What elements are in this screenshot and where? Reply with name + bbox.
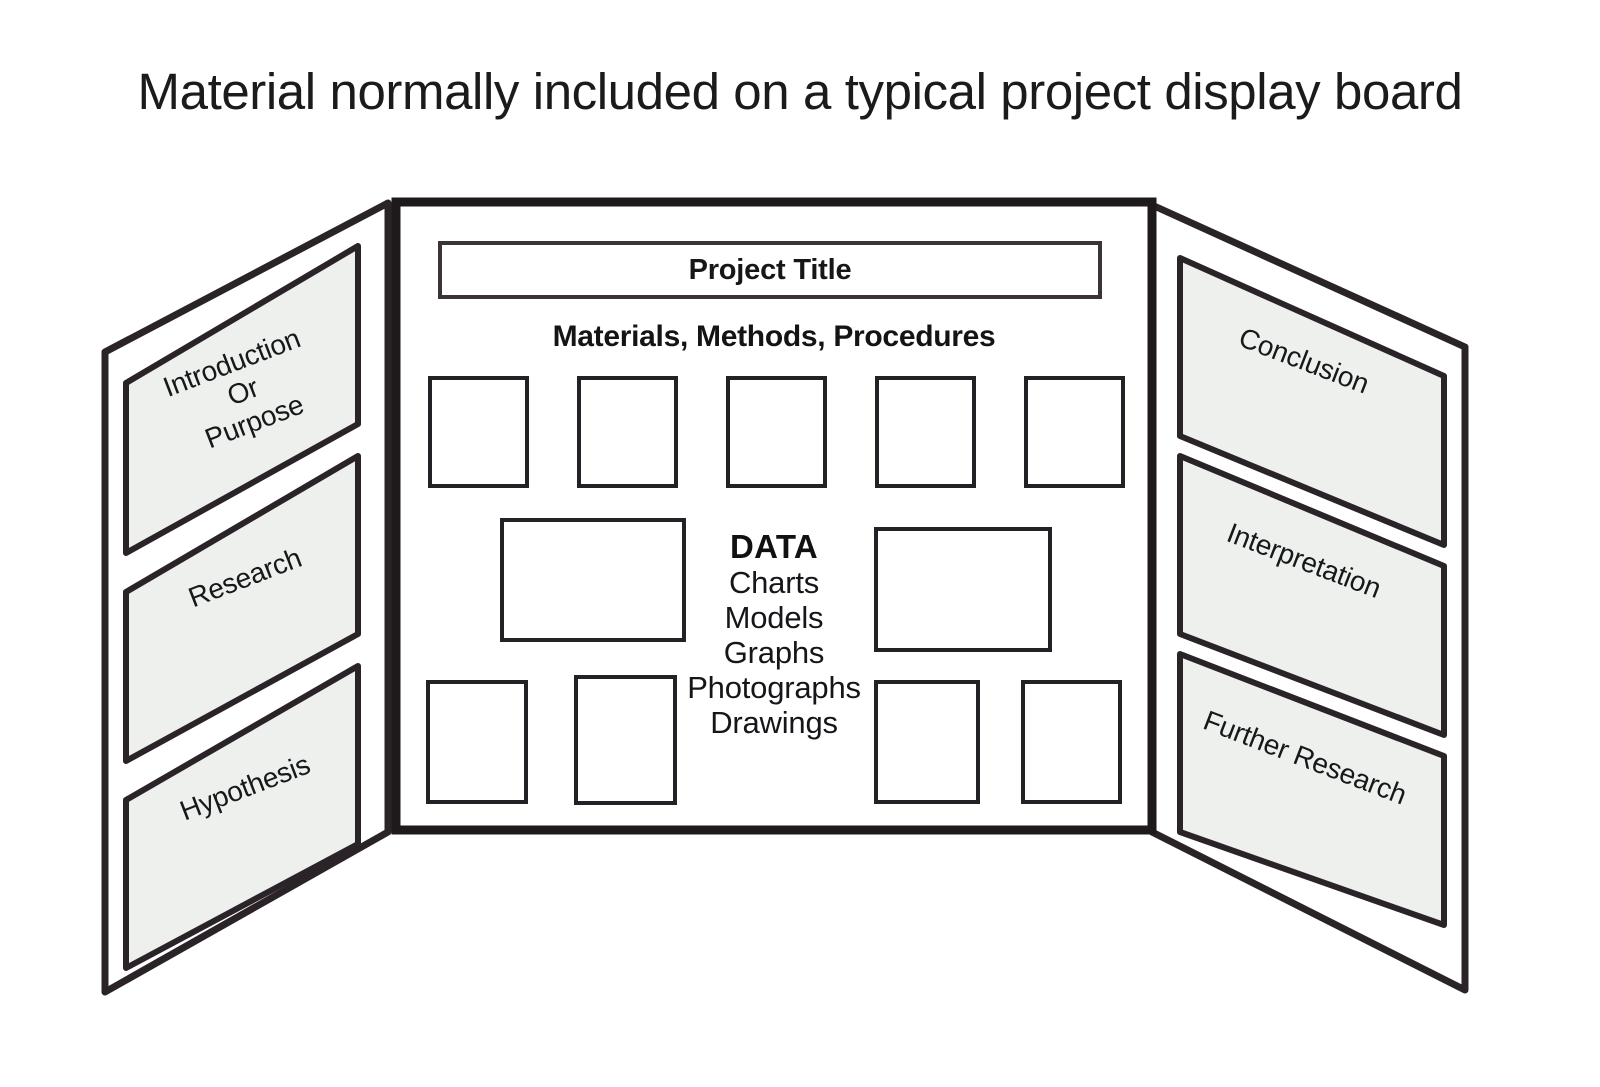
image-box-bottom-left-1 [426, 680, 528, 804]
data-item-charts: Charts [666, 567, 882, 598]
materials-box-1 [428, 376, 529, 488]
image-box-bottom-right-2 [1021, 680, 1122, 804]
data-item-models: Models [666, 602, 882, 633]
data-block-title: DATA [666, 530, 882, 563]
materials-methods-row [428, 376, 1128, 488]
data-item-graphs: Graphs [666, 637, 882, 668]
center-panel: Project Title Materials, Methods, Proced… [396, 202, 1152, 830]
materials-box-5 [1024, 376, 1125, 488]
display-board-diagram: Introduction Or Purpose Research Hypothe… [0, 0, 1600, 1087]
project-title-text: Project Title [689, 254, 852, 287]
data-item-photographs: Photographs [666, 672, 882, 703]
materials-methods-procedures-heading: Materials, Methods, Procedures [396, 320, 1152, 354]
materials-box-2 [577, 376, 678, 488]
materials-box-3 [726, 376, 827, 488]
image-box-middle-left [500, 518, 686, 642]
data-item-drawings: Drawings [666, 707, 882, 738]
project-title-box: Project Title [438, 241, 1102, 299]
image-box-middle-right [874, 527, 1052, 652]
image-box-bottom-right-1 [874, 680, 980, 804]
materials-box-4 [875, 376, 976, 488]
image-box-bottom-left-2 [574, 675, 677, 805]
data-block: DATA Charts Models Graphs Photographs Dr… [666, 530, 882, 738]
